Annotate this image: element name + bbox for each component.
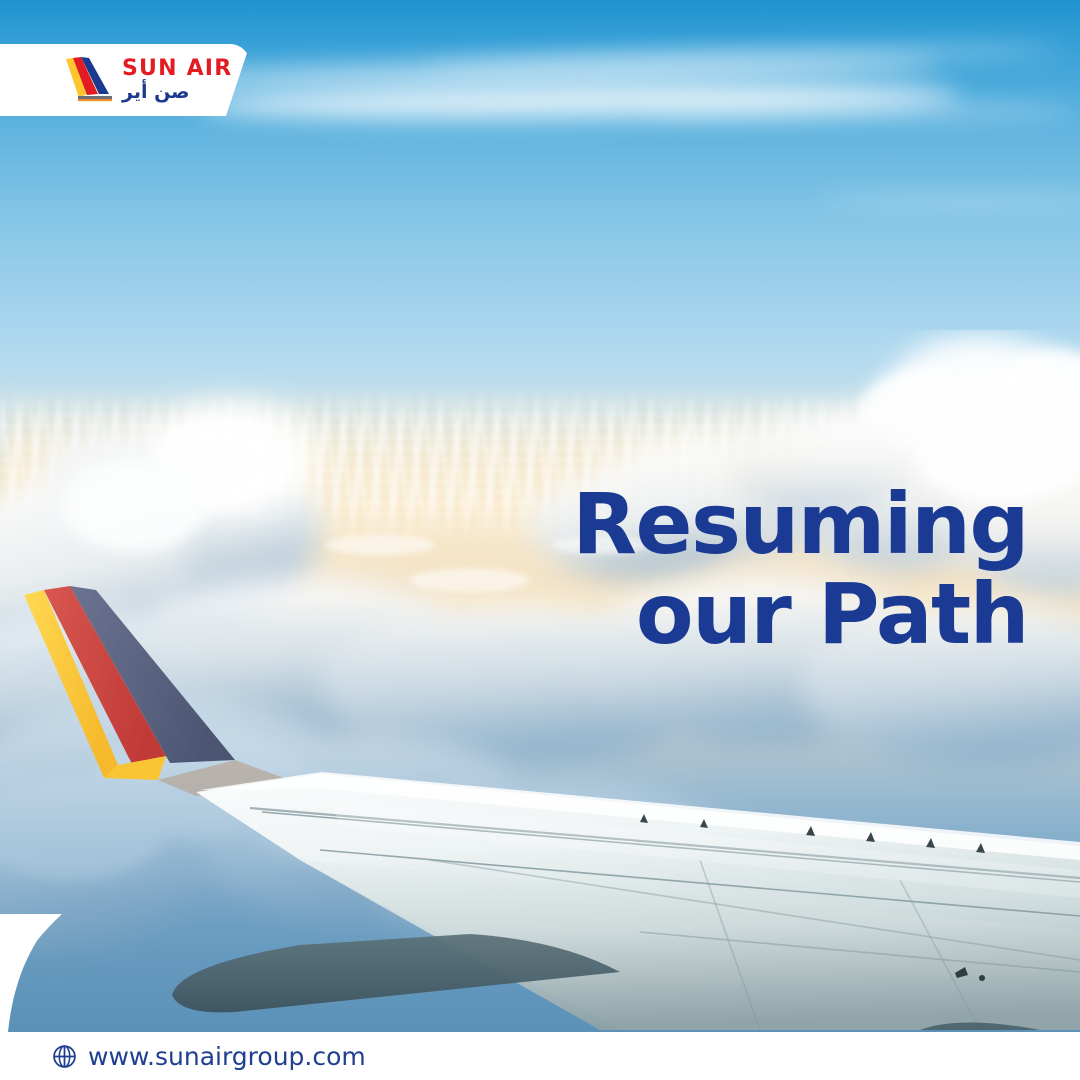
footer-bar: www.sunairgroup.com xyxy=(0,1032,1080,1080)
headline-line-1: Resuming xyxy=(388,482,1028,566)
social-media-poster: Resuming our Path SUN AIR صن أير xyxy=(0,0,1080,1080)
brand-logo-text: SUN AIR صن أير xyxy=(122,58,232,102)
website-url[interactable]: www.sunairgroup.com xyxy=(88,1042,366,1071)
cirrus-cloud-streak xyxy=(640,104,1080,118)
airline-tail-fin-icon xyxy=(56,54,114,106)
headline: Resuming our Path xyxy=(388,482,1028,656)
brand-logo-badge[interactable]: SUN AIR صن أير xyxy=(0,44,250,116)
corner-cut-shape xyxy=(0,914,250,1032)
winglet xyxy=(24,586,300,796)
brand-name-english: SUN AIR xyxy=(122,58,232,80)
headline-line-2: our Path xyxy=(388,572,1028,656)
globe-icon xyxy=(52,1044,77,1069)
brand-name-arabic: صن أير xyxy=(122,83,190,102)
